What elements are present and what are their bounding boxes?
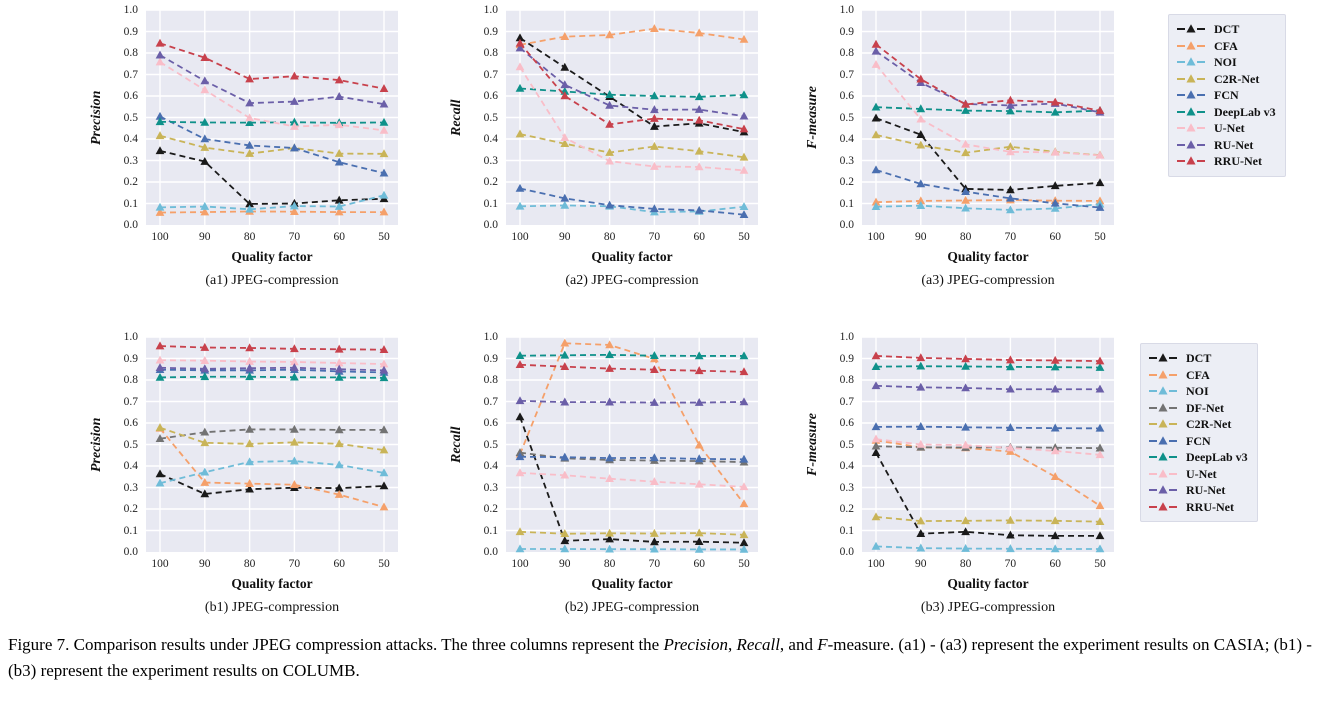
- data-point-marker: [740, 112, 749, 120]
- y-tick-label: 0.7: [484, 69, 498, 81]
- data-point-marker: [695, 206, 704, 214]
- x-tick-label: 90: [915, 231, 927, 243]
- x-tick-label: 60: [693, 558, 705, 570]
- series-c2r-net: [156, 131, 389, 157]
- series-ru-net: [872, 381, 1105, 392]
- x-tick-label: 90: [559, 231, 571, 243]
- data-point-marker: [200, 428, 209, 436]
- y-tick-label: 0.7: [840, 396, 854, 408]
- x-tick-label: 60: [1049, 231, 1061, 243]
- series-canvas-a1: [146, 10, 398, 225]
- y-tick-label: 0.0: [124, 219, 138, 231]
- y-tick-label: 1.0: [484, 4, 498, 16]
- y-tick-label: 0.6: [484, 417, 498, 429]
- y-tick-label: 0.0: [484, 546, 498, 558]
- series-canvas-b3: [862, 337, 1114, 552]
- data-point-marker: [380, 191, 389, 199]
- series-ru-net: [516, 43, 749, 119]
- legend-item-c2r-net[interactable]: C2R-Net: [1148, 416, 1248, 433]
- series-noi: [516, 544, 749, 552]
- subplot-caption-b1: (b1) JPEG-compression: [128, 600, 416, 616]
- x-tick-label: 50: [738, 231, 750, 243]
- x-axis-label-b3: Quality factor: [862, 576, 1114, 592]
- y-tick-label: 0.5: [124, 439, 138, 451]
- legend-item-deeplab-v3[interactable]: DeepLab v3: [1176, 104, 1276, 121]
- y-tick-label: 0.3: [124, 482, 138, 494]
- x-tick-label: 100: [151, 231, 168, 243]
- series-noi: [156, 191, 389, 213]
- legend-item-fcn[interactable]: FCN: [1148, 433, 1248, 450]
- gridlines: [146, 10, 398, 225]
- caption-text-1: Figure 7. Comparison results under JPEG …: [8, 635, 663, 654]
- data-point-marker: [560, 133, 569, 141]
- x-tick-label: 80: [960, 558, 972, 570]
- y-tick-label: 0.8: [484, 47, 498, 59]
- y-tick-label: 1.0: [124, 4, 138, 16]
- y-tick-label: 0.1: [840, 525, 854, 537]
- y-tick-label: 0.6: [840, 417, 854, 429]
- y-tick-label: 0.3: [484, 482, 498, 494]
- legend-item-u-net[interactable]: U-Net: [1176, 120, 1276, 137]
- series-deeplab-v3: [516, 84, 749, 100]
- subplot-a1: Precision0.00.10.20.30.40.50.60.70.80.91…: [88, 4, 398, 299]
- series-rru-net: [872, 40, 1105, 114]
- y-tick-label: 0.6: [840, 90, 854, 102]
- y-tick-label: 0.0: [124, 546, 138, 558]
- legend-marker-icon: [1176, 72, 1206, 86]
- x-tick-label: 80: [604, 558, 616, 570]
- y-tick-label: 0.2: [124, 503, 138, 515]
- x-tick-label: 80: [604, 231, 616, 243]
- data-point-marker: [740, 166, 749, 174]
- data-point-marker: [156, 469, 165, 477]
- legend-item-label: C2R-Net: [1186, 418, 1231, 430]
- y-tick-label: 1.0: [124, 331, 138, 343]
- x-axis-label-a2: Quality factor: [506, 249, 758, 265]
- x-tick-label: 80: [244, 231, 256, 243]
- legend-item-label: DeepLab v3: [1214, 106, 1276, 118]
- subplot-caption-b3: (b3) JPEG-compression: [844, 600, 1132, 616]
- y-tick-label: 0.9: [124, 353, 138, 365]
- y-tick-label: 0.1: [484, 198, 498, 210]
- x-tick-label: 70: [1005, 558, 1017, 570]
- y-axis-label-a2: Recall: [448, 10, 466, 225]
- y-tick-label: 0.0: [840, 219, 854, 231]
- series-rru-net: [156, 39, 389, 92]
- x-tick-label: 90: [199, 558, 211, 570]
- caption-em-f: F: [817, 635, 827, 654]
- data-point-marker: [872, 40, 881, 48]
- subplot-a3: F-measure0.00.10.20.30.40.50.60.70.80.91…: [804, 4, 1114, 299]
- y-tick-label: 0.4: [840, 460, 854, 472]
- data-point-marker: [156, 57, 165, 65]
- legend-item-rru-net[interactable]: RRU-Net: [1148, 499, 1248, 516]
- caption-em-recall: Recall: [737, 635, 780, 654]
- series-dct: [156, 469, 389, 497]
- x-tick-label: 100: [511, 231, 528, 243]
- y-axis-label-b3: F-measure: [804, 337, 822, 552]
- y-tick-label: 1.0: [840, 4, 854, 16]
- y-axis-label-a3: F-measure: [804, 10, 822, 225]
- series-c2r-net: [872, 130, 1105, 158]
- x-tick-label: 90: [915, 558, 927, 570]
- y-tick-label: 0.9: [840, 26, 854, 38]
- y-tick-label: 0.7: [484, 396, 498, 408]
- x-axis-label-b1: Quality factor: [146, 576, 398, 592]
- y-tick-label: 0.1: [124, 525, 138, 537]
- series-canvas-b1: [146, 337, 398, 552]
- subplot-b2: Recall0.00.10.20.30.40.50.60.70.80.91.01…: [448, 331, 758, 626]
- data-point-marker: [156, 51, 165, 59]
- data-point-marker: [200, 76, 209, 84]
- legend-marker-icon: [1176, 22, 1206, 36]
- data-point-marker: [200, 468, 209, 476]
- legend-marker-icon: [1148, 500, 1178, 514]
- y-tick-label: 1.0: [840, 331, 854, 343]
- y-axis-ticks-b2: 0.00.10.20.30.40.50.60.70.80.91.0: [470, 337, 500, 552]
- legend-item-ru-net[interactable]: RU-Net: [1148, 482, 1248, 499]
- legend-item-label: RU-Net: [1214, 139, 1253, 151]
- series-df-net: [156, 425, 389, 442]
- y-tick-label: 0.4: [484, 133, 498, 145]
- y-tick-label: 0.4: [124, 460, 138, 472]
- y-tick-label: 0.0: [840, 546, 854, 558]
- legend-marker-icon: [1148, 384, 1178, 398]
- legend-marker-icon: [1148, 417, 1178, 431]
- data-point-marker: [290, 143, 299, 151]
- legend-marker-icon: [1148, 483, 1178, 497]
- y-tick-label: 0.5: [484, 439, 498, 451]
- y-axis-label-b1: Precision: [88, 337, 106, 552]
- data-point-marker: [872, 165, 881, 173]
- legend-marker-icon: [1148, 368, 1178, 382]
- data-point-marker: [516, 412, 525, 420]
- series-canvas-a2: [506, 10, 758, 225]
- subplot-caption-a3: (a3) JPEG-compression: [844, 273, 1132, 289]
- legend-item-dct[interactable]: DCT: [1148, 350, 1248, 367]
- gridlines: [506, 10, 758, 225]
- legend-marker-icon: [1176, 121, 1206, 135]
- x-tick-label: 70: [1005, 231, 1017, 243]
- legend-marker-icon: [1176, 154, 1206, 168]
- y-tick-label: 0.6: [124, 417, 138, 429]
- data-point-marker: [961, 140, 970, 148]
- caption-text-3: , and: [780, 635, 817, 654]
- legend-item-u-net[interactable]: U-Net: [1148, 466, 1248, 483]
- y-axis-label-a1: Precision: [88, 10, 106, 225]
- series-u-net: [156, 356, 389, 368]
- legend-item-c2r-net[interactable]: C2R-Net: [1176, 71, 1276, 88]
- y-tick-label: 0.3: [840, 482, 854, 494]
- y-tick-label: 0.7: [124, 69, 138, 81]
- y-tick-label: 0.5: [484, 112, 498, 124]
- x-tick-label: 70: [289, 231, 301, 243]
- subplot-b3: F-measure0.00.10.20.30.40.50.60.70.80.91…: [804, 331, 1114, 626]
- legend-bottom-row: DCTCFANOIDF-NetC2R-NetFCNDeepLab v3U-Net…: [1140, 343, 1258, 522]
- legend-item-ru-net[interactable]: RU-Net: [1176, 137, 1276, 154]
- data-point-marker: [380, 84, 389, 92]
- y-tick-label: 0.3: [840, 155, 854, 167]
- y-tick-label: 0.4: [840, 133, 854, 145]
- legend-marker-icon: [1176, 88, 1206, 102]
- series-deeplab-v3: [156, 117, 389, 126]
- legend-item-label: DCT: [1214, 23, 1239, 35]
- legend-item-label: CFA: [1214, 40, 1238, 52]
- legend-marker-icon: [1176, 138, 1206, 152]
- series-noi: [156, 456, 389, 486]
- y-tick-label: 0.8: [124, 374, 138, 386]
- data-point-marker: [516, 184, 525, 192]
- x-tick-label: 100: [151, 558, 168, 570]
- legend-item-label: FCN: [1186, 435, 1211, 447]
- legend-marker-icon: [1148, 434, 1178, 448]
- legend-item-label: C2R-Net: [1214, 73, 1259, 85]
- y-tick-label: 0.7: [840, 69, 854, 81]
- legend-item-dct[interactable]: DCT: [1176, 21, 1276, 38]
- series-c2r-net: [156, 423, 389, 453]
- legend-item-label: FCN: [1214, 89, 1239, 101]
- data-point-marker: [740, 499, 749, 507]
- data-point-marker: [872, 60, 881, 68]
- y-tick-label: 0.1: [840, 198, 854, 210]
- legend-item-label: NOI: [1186, 385, 1209, 397]
- series-dct: [516, 33, 749, 135]
- data-point-marker: [335, 439, 344, 447]
- y-axis-label-b2: Recall: [448, 337, 466, 552]
- legend-item-label: CFA: [1186, 369, 1210, 381]
- y-axis-ticks-a1: 0.00.10.20.30.40.50.60.70.80.91.0: [110, 10, 140, 225]
- legend-item-label: RU-Net: [1186, 484, 1225, 496]
- legend-item-noi[interactable]: NOI: [1176, 54, 1276, 71]
- x-tick-label: 80: [960, 231, 972, 243]
- y-tick-label: 0.1: [124, 198, 138, 210]
- plot-area-a3: [862, 10, 1114, 225]
- y-tick-label: 0.5: [840, 112, 854, 124]
- legend-item-cfa[interactable]: CFA: [1148, 367, 1248, 384]
- y-tick-label: 0.0: [484, 219, 498, 231]
- legend-item-label: RRU-Net: [1186, 501, 1234, 513]
- series-dct: [516, 412, 749, 546]
- legend-marker-icon: [1148, 450, 1178, 464]
- data-point-marker: [916, 115, 925, 123]
- gridlines: [862, 10, 1114, 225]
- legend-item-fcn[interactable]: FCN: [1176, 87, 1276, 104]
- plot-area-a2: [506, 10, 758, 225]
- legend-item-label: NOI: [1214, 56, 1237, 68]
- x-tick-label: 60: [333, 231, 345, 243]
- y-tick-label: 0.5: [840, 439, 854, 451]
- data-point-marker: [650, 24, 659, 32]
- x-tick-label: 70: [649, 231, 661, 243]
- legend-top-row: DCTCFANOIC2R-NetFCNDeepLab v3U-NetRU-Net…: [1168, 14, 1286, 177]
- series-dct: [156, 146, 389, 207]
- x-tick-label: 50: [1094, 558, 1106, 570]
- data-point-marker: [380, 502, 389, 510]
- data-point-marker: [380, 126, 389, 134]
- series-canvas-a3: [862, 10, 1114, 225]
- y-tick-label: 0.4: [484, 460, 498, 472]
- subplot-b1: Precision0.00.10.20.30.40.50.60.70.80.91…: [88, 331, 398, 626]
- y-tick-label: 0.8: [484, 374, 498, 386]
- x-tick-label: 60: [333, 558, 345, 570]
- y-axis-ticks-a3: 0.00.10.20.30.40.50.60.70.80.91.0: [826, 10, 856, 225]
- series-fcn: [516, 184, 749, 218]
- data-point-marker: [872, 435, 881, 443]
- data-point-marker: [156, 39, 165, 47]
- legend-item-label: DCT: [1186, 352, 1211, 364]
- legend-item-df-net[interactable]: DF-Net: [1148, 400, 1248, 417]
- series-noi: [872, 542, 1105, 552]
- series-rru-net: [516, 360, 749, 375]
- data-point-marker: [872, 130, 881, 138]
- x-tick-label: 90: [559, 558, 571, 570]
- x-tick-label: 100: [867, 231, 884, 243]
- series-c2r-net: [872, 512, 1105, 525]
- x-tick-label: 50: [378, 231, 390, 243]
- y-tick-label: 0.5: [124, 112, 138, 124]
- y-tick-label: 0.6: [484, 90, 498, 102]
- series-deeplab-v3: [872, 362, 1105, 371]
- x-tick-label: 60: [693, 231, 705, 243]
- data-point-marker: [1096, 501, 1105, 509]
- y-axis-ticks-a2: 0.00.10.20.30.40.50.60.70.80.91.0: [470, 10, 500, 225]
- y-tick-label: 0.9: [484, 26, 498, 38]
- legend-marker-icon: [1148, 467, 1178, 481]
- subplot-caption-b2: (b2) JPEG-compression: [488, 600, 776, 616]
- caption-text-2: ,: [728, 635, 737, 654]
- series-c2r-net: [516, 527, 749, 538]
- data-point-marker: [516, 129, 525, 137]
- legend-item-cfa[interactable]: CFA: [1176, 38, 1276, 55]
- y-tick-label: 0.9: [124, 26, 138, 38]
- x-tick-label: 90: [199, 231, 211, 243]
- legend-marker-icon: [1176, 55, 1206, 69]
- y-tick-label: 0.6: [124, 90, 138, 102]
- y-tick-label: 0.9: [840, 353, 854, 365]
- data-point-marker: [290, 480, 299, 488]
- y-tick-label: 0.2: [484, 176, 498, 188]
- legend-item-label: RRU-Net: [1214, 155, 1262, 167]
- figure-caption: Figure 7. Comparison results under JPEG …: [8, 632, 1318, 685]
- legend-item-rru-net[interactable]: RRU-Net: [1176, 153, 1276, 170]
- y-tick-label: 1.0: [484, 331, 498, 343]
- x-axis-label-a3: Quality factor: [862, 249, 1114, 265]
- x-tick-label: 100: [867, 558, 884, 570]
- data-point-marker: [200, 85, 209, 93]
- y-tick-label: 0.3: [484, 155, 498, 167]
- series-c2r-net: [516, 129, 749, 160]
- data-point-marker: [650, 142, 659, 150]
- y-tick-label: 0.2: [840, 503, 854, 515]
- subplot-caption-a2: (a2) JPEG-compression: [488, 273, 776, 289]
- y-axis-ticks-b3: 0.00.10.20.30.40.50.60.70.80.91.0: [826, 337, 856, 552]
- x-tick-label: 70: [289, 558, 301, 570]
- x-tick-label: 50: [738, 558, 750, 570]
- x-tick-label: 70: [649, 558, 661, 570]
- legend-item-deeplab-v3[interactable]: DeepLab v3: [1148, 449, 1248, 466]
- legend-marker-icon: [1176, 105, 1206, 119]
- data-point-marker: [1096, 531, 1105, 539]
- data-point-marker: [156, 423, 165, 431]
- data-point-marker: [156, 146, 165, 154]
- data-point-marker: [872, 512, 881, 520]
- y-tick-label: 0.8: [840, 374, 854, 386]
- figure-7: Precision0.00.10.20.30.40.50.60.70.80.91…: [0, 0, 1326, 703]
- data-point-marker: [1051, 472, 1060, 480]
- data-point-marker: [560, 32, 569, 40]
- y-tick-label: 0.9: [484, 353, 498, 365]
- data-point-marker: [695, 28, 704, 36]
- y-tick-label: 0.2: [124, 176, 138, 188]
- y-axis-ticks-b1: 0.00.10.20.30.40.50.60.70.80.91.0: [110, 337, 140, 552]
- x-tick-label: 60: [1049, 558, 1061, 570]
- data-point-marker: [156, 131, 165, 139]
- x-tick-label: 50: [378, 558, 390, 570]
- data-point-marker: [335, 460, 344, 468]
- y-tick-label: 0.8: [840, 47, 854, 59]
- legend-item-label: DeepLab v3: [1186, 451, 1248, 463]
- plot-area-a1: [146, 10, 398, 225]
- y-tick-label: 0.1: [484, 525, 498, 537]
- legend-item-label: U-Net: [1214, 122, 1245, 134]
- legend-marker-icon: [1176, 39, 1206, 53]
- data-point-marker: [695, 147, 704, 155]
- x-tick-label: 100: [511, 558, 528, 570]
- subplot-a2: Recall0.00.10.20.30.40.50.60.70.80.91.01…: [448, 4, 758, 299]
- y-tick-label: 0.7: [124, 396, 138, 408]
- series-dct: [872, 448, 1105, 539]
- legend-item-label: U-Net: [1186, 468, 1217, 480]
- y-tick-label: 0.8: [124, 47, 138, 59]
- data-point-marker: [560, 63, 569, 71]
- caption-em-precision: Precision: [663, 635, 728, 654]
- subplot-caption-a1: (a1) JPEG-compression: [128, 273, 416, 289]
- x-axis-label-a1: Quality factor: [146, 249, 398, 265]
- series-ru-net: [156, 51, 389, 108]
- y-tick-label: 0.3: [124, 155, 138, 167]
- legend-item-noi[interactable]: NOI: [1148, 383, 1248, 400]
- x-tick-label: 80: [244, 558, 256, 570]
- series-rru-net: [156, 341, 389, 353]
- data-point-marker: [290, 72, 299, 80]
- y-tick-label: 0.2: [484, 503, 498, 515]
- data-point-marker: [516, 62, 525, 70]
- series-canvas-b2: [506, 337, 758, 552]
- plot-area-b1: [146, 337, 398, 552]
- series-cfa: [516, 24, 749, 48]
- series-cfa: [156, 424, 389, 511]
- y-tick-label: 0.4: [124, 133, 138, 145]
- data-point-marker: [1006, 96, 1015, 104]
- legend-marker-icon: [1148, 351, 1178, 365]
- plot-area-b3: [862, 337, 1114, 552]
- plot-area-b2: [506, 337, 758, 552]
- legend-item-label: DF-Net: [1186, 402, 1224, 414]
- x-tick-label: 50: [1094, 231, 1106, 243]
- legend-marker-icon: [1148, 401, 1178, 415]
- y-tick-label: 0.2: [840, 176, 854, 188]
- x-axis-label-b2: Quality factor: [506, 576, 758, 592]
